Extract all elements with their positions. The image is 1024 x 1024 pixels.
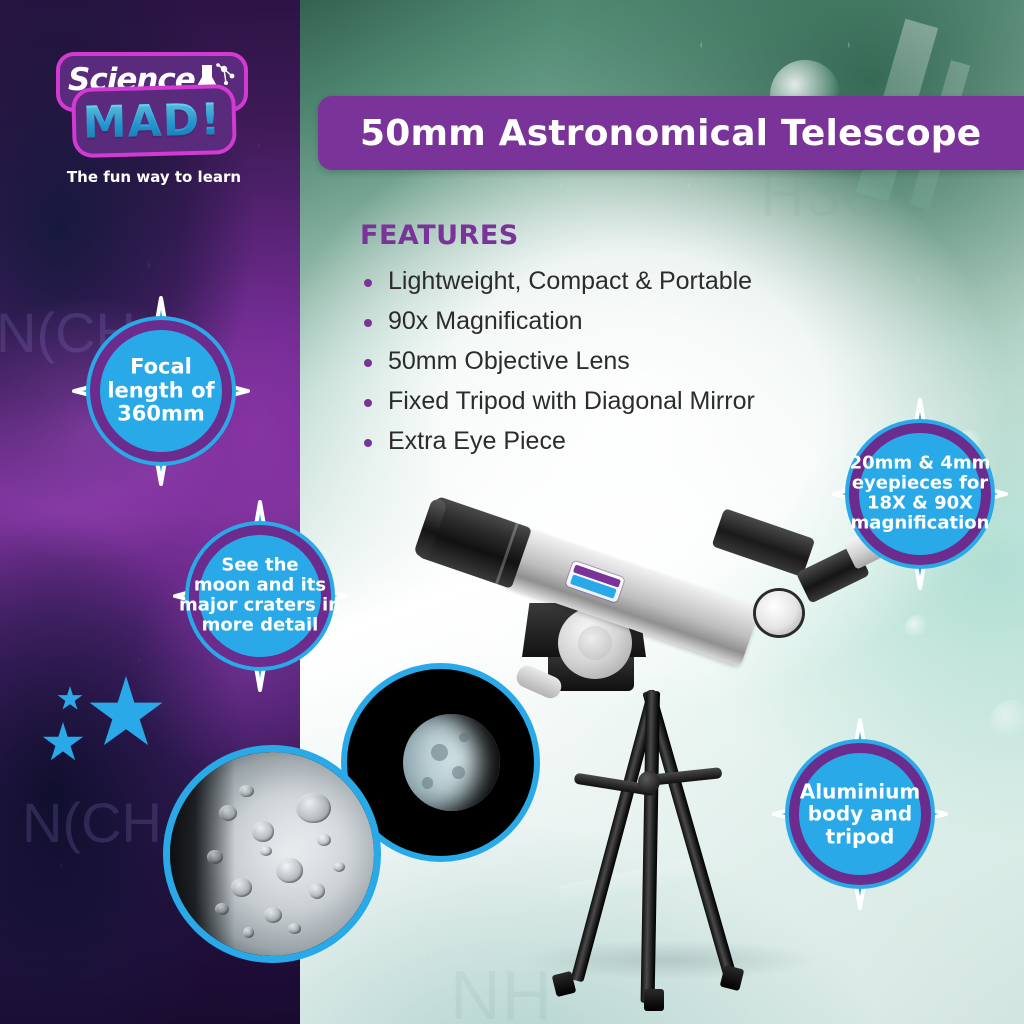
features-list: Lightweight, Compact & Portable 90x Magn…	[360, 267, 880, 456]
moon-crater-closeup-photo	[163, 745, 381, 963]
page-title: 50mm Astronomical Telescope	[360, 113, 981, 154]
science-mad-logo: Science MAD! The fun way to learn	[54, 56, 254, 162]
finder-scope-lens	[756, 591, 802, 635]
background-bokeh	[905, 615, 931, 641]
logo-tagline: The fun way to learn	[54, 168, 254, 186]
feature-item: 50mm Objective Lens	[360, 347, 880, 376]
feature-item: 90x Magnification	[360, 307, 880, 336]
logo-mad-text: MAD!	[53, 93, 250, 149]
badge-text: Focal length of 360mm	[62, 356, 260, 427]
feature-item: Fixed Tripod with Diagonal Mirror	[360, 387, 880, 416]
badge-moon-craters: See the moon and its major craters in mo…	[163, 500, 357, 692]
tripod-hub	[638, 771, 660, 793]
badge-eyepieces: 20mm & 4mm eyepieces for 18X & 90X magni…	[822, 398, 1018, 590]
product-infographic: H3C NH N(CH N(CH3)2 Science MAD	[0, 0, 1024, 1024]
title-banner: 50mm Astronomical Telescope	[318, 96, 1024, 170]
tripod-foot	[720, 965, 745, 991]
feature-item: Extra Eye Piece	[360, 427, 880, 456]
focuser-tube	[711, 508, 815, 577]
tube-logo-sticker	[565, 561, 625, 603]
badge-text: See the moon and its major craters in mo…	[163, 556, 357, 637]
features-section: FEATURES Lightweight, Compact & Portable…	[360, 220, 880, 467]
features-heading: FEATURES	[360, 220, 880, 251]
badge-text: 20mm & 4mm eyepieces for 18X & 90X magni…	[822, 454, 1018, 535]
badge-text: Aluminium body and tripod	[762, 780, 958, 847]
tripod-foot	[644, 989, 664, 1011]
badge-aluminium: Aluminium body and tripod	[762, 718, 958, 910]
badge-focal-length: Focal length of 360mm	[62, 296, 260, 486]
feature-item: Lightweight, Compact & Portable	[360, 267, 880, 296]
